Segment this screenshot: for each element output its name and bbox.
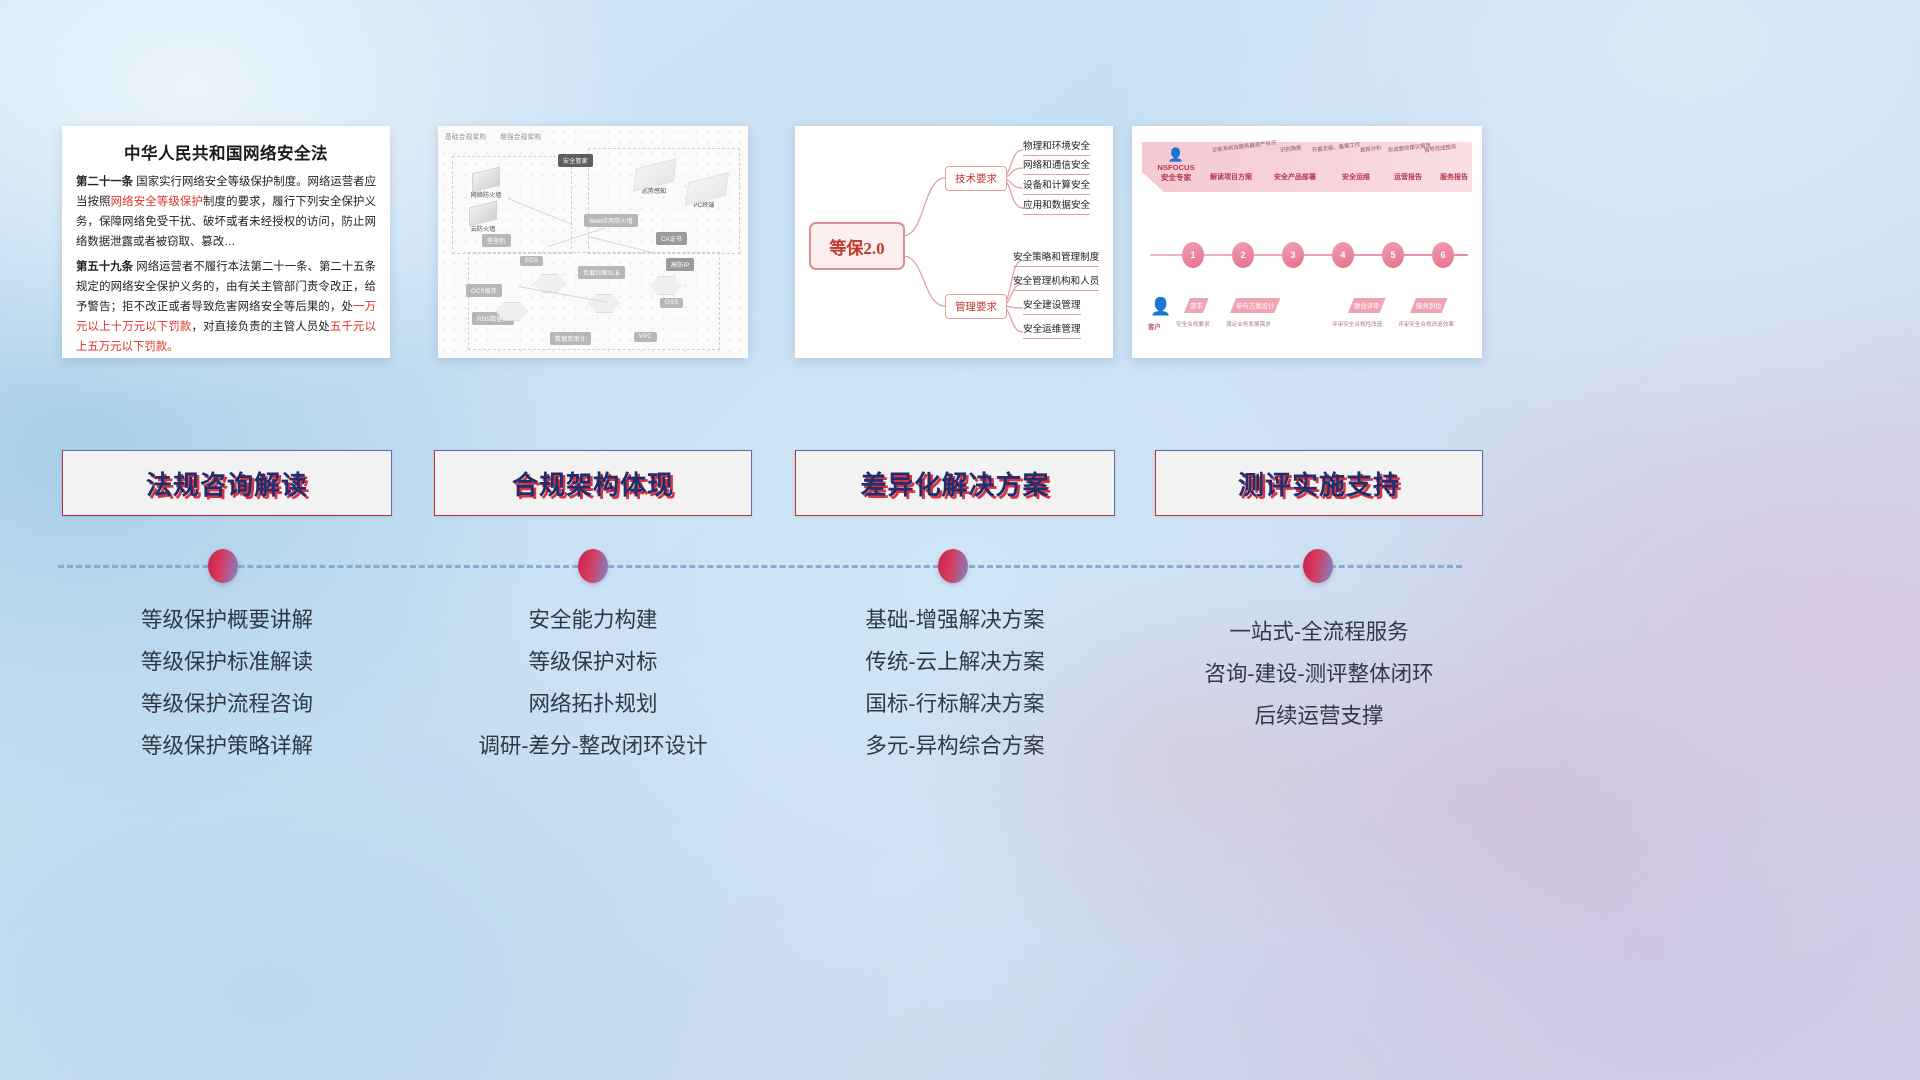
list-item: 咨询-建设-测评整体闭环 (1155, 654, 1483, 696)
card-nsfocus-timeline[interactable]: 👤 NSFOCUS 安全专家 诊断系统及服务器资产状况 识别隐患 开展定级、备案… (1132, 126, 1482, 358)
nsfocus-infographic: 👤 NSFOCUS 安全专家 诊断系统及服务器资产状况 识别隐患 开展定级、备案… (1132, 126, 1482, 358)
nsfocus-step-3: 3 (1282, 242, 1304, 268)
node-waf: Web应用防火墙 (584, 214, 638, 227)
heading-box-evaluation-support[interactable]: 测评实施支持 (1155, 450, 1483, 516)
article-59-mid: ，对直接负责的主管人员处 (191, 321, 330, 333)
nsfocus-note-1: 安全合规要求 (1176, 320, 1210, 328)
nsfocus-sub-label-2: 安全产品部署 (1274, 172, 1316, 182)
node-anti-ddos: 高防IP (666, 258, 694, 271)
list-item: 等级保护标准解读 (62, 642, 392, 684)
nsfocus-sub-label-5: 服务报告 (1440, 172, 1468, 182)
nsfocus-sub-label-3: 安全运维 (1342, 172, 1370, 182)
mindmap-leaf-tech-1: 物理和环境安全 (1023, 141, 1090, 156)
nsfocus-brand-2: 安全专家 (1161, 173, 1191, 182)
list-column-regulation-consulting: 等级保护概要讲解 等级保护标准解读 等级保护流程咨询 等级保护策略详解 (62, 600, 392, 768)
customer-person-icon: 👤 (1150, 298, 1171, 315)
article-21-label: 第二十一条 (76, 176, 133, 188)
article-59-label: 第五十九条 (76, 261, 133, 273)
list-item: 后续运营支撑 (1155, 696, 1483, 738)
nsfocus-brand-1: NSFOCUS (1157, 163, 1194, 172)
node-db-audit: 数据库审计 (550, 332, 591, 345)
list-column-differentiated-solution: 基础-增强解决方案 传统-云上解决方案 国标-行标解决方案 多元-异构综合方案 (795, 600, 1115, 768)
law-title: 中华人民共和国网络安全法 (76, 140, 376, 164)
architecture-header-right: 增强合规架构 (500, 131, 541, 141)
heading-row: 法规咨询解读 合规架构体现 差异化解决方案 测评实施支持 (0, 450, 1920, 518)
nsfocus-tag-1: 需求 (1184, 298, 1209, 313)
node-slb: 负载均衡SLB (578, 266, 625, 279)
heading-label-4: 测评实施支持 (1238, 465, 1400, 502)
list-item: 基础-增强解决方案 (795, 600, 1115, 642)
heading-box-regulation-consulting[interactable]: 法规咨询解读 (62, 450, 392, 516)
nsfocus-step-5: 5 (1382, 242, 1404, 268)
nsfocus-tag-4: 服务到位 (1410, 298, 1448, 313)
node-cloud-fw: 云防火墙 (460, 204, 506, 233)
mindmap-leaf-mgmt-1: 安全策略和管理制度 (1013, 252, 1099, 267)
list-item: 一站式-全流程服务 (1155, 612, 1483, 654)
timeline-dot-1[interactable] (208, 549, 238, 583)
node-admin-pc: 态势感知 (634, 164, 674, 195)
list-item: 调研-差分-整改闭环设计 (434, 726, 752, 768)
list-item: 网络拓扑规划 (434, 684, 752, 726)
architecture-header-left: 基础合规架构 (445, 131, 486, 141)
heading-label-2: 合规架构体现 (512, 465, 674, 502)
timeline-dot-2[interactable] (578, 549, 608, 583)
stage: 中华人民共和国网络安全法 第二十一条 国家实行网络安全等级保护制度。网络运营者应… (0, 0, 1920, 1080)
nsfocus-step-6: 6 (1432, 242, 1454, 268)
list-item: 多元-异构综合方案 (795, 726, 1115, 768)
list-item: 国标-行标解决方案 (795, 684, 1115, 726)
node-bastion: 堡垒机 (482, 234, 511, 247)
list-row: 等级保护概要讲解 等级保护标准解读 等级保护流程咨询 等级保护策略详解 安全能力… (0, 600, 1920, 830)
mindmap-leaf-tech-4: 应用和数据安全 (1023, 200, 1090, 215)
list-item: 传统-云上解决方案 (795, 642, 1115, 684)
timeline-dashed-line (58, 565, 1462, 568)
nsfocus-tag-3: 联合评审 (1348, 298, 1386, 313)
nsfocus-note-3: 评审安全合规性改造 (1332, 320, 1382, 328)
nsfocus-tag-2: 参与方案设计 (1230, 298, 1280, 313)
node-pc-terminal: PC终端 (686, 178, 722, 209)
node-ocs: OCS缓存 (466, 284, 502, 297)
list-item: 等级保护对标 (434, 642, 752, 684)
node-oss: OSS (660, 298, 683, 308)
mindmap: 等保2.0 技术要求 管理要求 物理和环境安全 网络和通信安全 设备和计算安全 … (795, 126, 1113, 358)
nsfocus-note-2: 满足业务发展需求 (1226, 320, 1271, 328)
list-item: 等级保护流程咨询 (62, 684, 392, 726)
mindmap-leaf-mgmt-2: 安全管理机构和人员 (1013, 276, 1099, 291)
expert-person-icon: 👤 (1148, 148, 1204, 161)
law-article-21: 第二十一条 国家实行网络安全等级保护制度。网络运营者应当按照网络安全等级保护制度… (76, 173, 376, 252)
mindmap-branch-management: 管理要求 (945, 294, 1007, 319)
nsfocus-customer-label: 客户 (1148, 322, 1161, 331)
card-mindmap-dengbao[interactable]: 等保2.0 技术要求 管理要求 物理和环境安全 网络和通信安全 设备和计算安全 … (795, 126, 1113, 358)
heading-label-3: 差异化解决方案 (860, 465, 1049, 502)
nsfocus-sub-label-1: 解读项目方案 (1210, 172, 1252, 182)
mindmap-leaf-mgmt-3: 安全建设管理 (1023, 300, 1081, 315)
law-article-59: 第五十九条 网络运营者不履行本法第二十一条、第二十五条规定的网络安全保护义务的，… (76, 258, 376, 357)
timeline-dot-4[interactable] (1303, 549, 1333, 583)
mindmap-branch-technical: 技术要求 (945, 166, 1007, 191)
heading-box-differentiated-solution[interactable]: 差异化解决方案 (795, 450, 1115, 516)
list-item: 等级保护概要讲解 (62, 600, 392, 642)
mindmap-leaf-mgmt-4: 安全运维管理 (1023, 324, 1081, 339)
nsfocus-step-4: 4 (1332, 242, 1354, 268)
node-ecs: ECS (520, 256, 543, 266)
nsfocus-logo: 👤 NSFOCUS 安全专家 (1148, 148, 1204, 182)
nsfocus-step-2: 2 (1232, 242, 1254, 268)
node-fw: 网络防火墙 (466, 170, 506, 199)
node-vpc: VPC (634, 332, 657, 342)
mindmap-leaf-tech-3: 设备和计算安全 (1023, 180, 1090, 195)
card-compliance-architecture[interactable]: 基础合规架构 增强合规架构 安全管家 网络防火墙 云防火墙 态势感知 PC终端 … (438, 126, 748, 358)
list-item: 安全能力构建 (434, 600, 752, 642)
mindmap-leaf-tech-2: 网络和通信安全 (1023, 160, 1090, 175)
architecture-diagram: 基础合规架构 增强合规架构 安全管家 网络防火墙 云防火墙 态势感知 PC终端 … (438, 126, 748, 358)
node-ca-cert: CA证书 (656, 232, 687, 245)
list-column-evaluation-support: 一站式-全流程服务 咨询-建设-测评整体闭环 后续运营支撑 (1155, 612, 1483, 738)
list-column-compliance-architecture: 安全能力构建 等级保护对标 网络拓扑规划 调研-差分-整改闭环设计 (434, 600, 752, 768)
node-security-manager: 安全管家 (558, 154, 593, 167)
card-row: 中华人民共和国网络安全法 第二十一条 国家实行网络安全等级保护制度。网络运营者应… (0, 126, 1920, 362)
heading-label-1: 法规咨询解读 (146, 465, 308, 502)
timeline-dot-3[interactable] (938, 549, 968, 583)
timeline (58, 565, 1462, 567)
article-21-highlight: 网络安全等级保护 (111, 196, 203, 208)
nsfocus-note-4: 评审安全合规改造效果 (1398, 320, 1454, 328)
heading-box-compliance-architecture[interactable]: 合规架构体现 (434, 450, 752, 516)
nsfocus-step-1: 1 (1182, 242, 1204, 268)
list-item: 等级保护策略详解 (62, 726, 392, 768)
mindmap-root-node: 等保2.0 (809, 222, 905, 270)
nsfocus-sub-label-4: 运营报告 (1394, 172, 1422, 182)
card-cybersecurity-law[interactable]: 中华人民共和国网络安全法 第二十一条 国家实行网络安全等级保护制度。网络运营者应… (62, 126, 390, 358)
